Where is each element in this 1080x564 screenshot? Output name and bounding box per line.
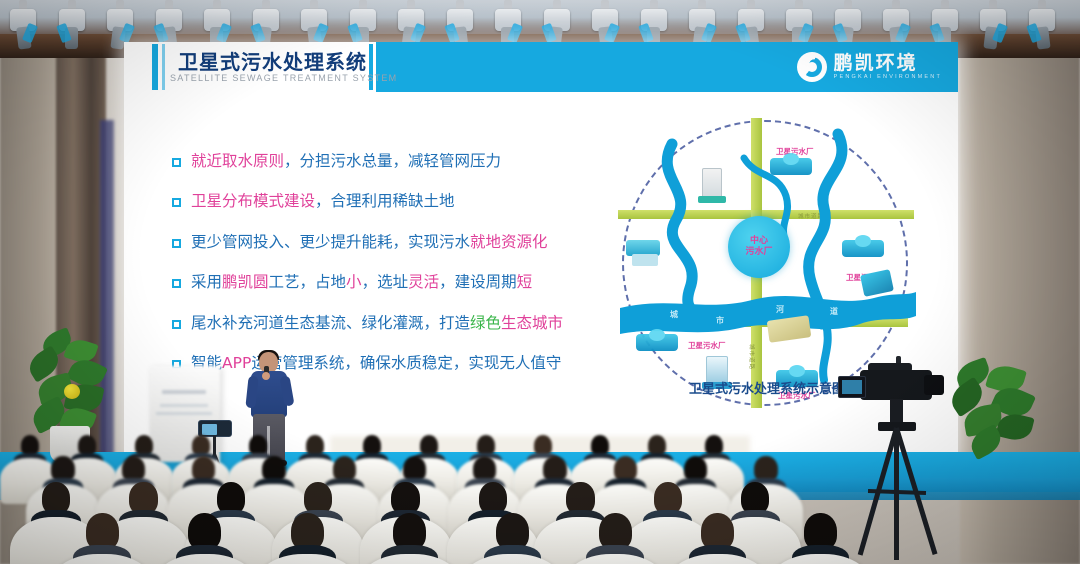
lectern-logo [162, 390, 206, 394]
presenter-hand [262, 372, 270, 380]
bullet-text-segment: 就地资源化 [470, 233, 548, 251]
slide-header-band: 卫星式污水处理系统 SATELLITE SEWAGE TREATMENT SYS… [124, 42, 958, 92]
bullet-text-segment: 更少管网投入、更少提升能耗，实现污水 [191, 233, 470, 251]
center-plant-label-line2: 污水厂 [745, 247, 772, 258]
bullet-text-segment: 生态城市 [501, 314, 563, 332]
river-label-char-1: 城 [670, 309, 678, 320]
bullet-text: 就近取水原则，分担污水总量，减轻管网压力 [191, 152, 501, 171]
stage-spotlight-icon [8, 0, 38, 56]
bullet-text-segment: 鹏凯圆 [222, 273, 269, 291]
audience-seating [0, 430, 1080, 564]
screenshot-root: 卫星式污水处理系统 SATELLITE SEWAGE TREATMENT SYS… [0, 0, 1080, 564]
header-accent-bar-edge [369, 44, 373, 90]
river-label-char-3: 河 [776, 304, 784, 315]
center-plant-node: 中心 污水厂 [728, 216, 790, 278]
bullet-text-segment: 就近取水原则 [191, 152, 284, 170]
bullet-text-segment: 绿色 [470, 314, 501, 332]
square-outline-bullet-icon [172, 279, 181, 288]
bullet-text-segment: 采用 [191, 273, 222, 291]
satellite-plant-icon-top [770, 158, 812, 175]
bullet-item: 就近取水原则，分担污水总量，减轻管网压力 [172, 152, 592, 171]
bullet-text-segment: 灵活 [408, 273, 439, 291]
bullet-item: 更少管网投入、更少提升能耗，实现污水就地资源化 [172, 233, 592, 252]
brand-name-cn: 鹏凯环境 [834, 54, 942, 73]
bullet-text-segment: 小 [346, 273, 362, 291]
river-label-char-4: 道 [830, 306, 838, 317]
bullet-item: 卫星分布模式建设，合理利用稀缺土地 [172, 192, 592, 211]
bullet-text-segment: ，分担污水总量，减轻管网压力 [284, 152, 501, 170]
bullet-text: 更少管网投入、更少提升能耗，实现污水就地资源化 [191, 233, 548, 252]
bullet-text-segment: 工艺，占地 [269, 273, 347, 291]
lectern-text-line-2 [156, 412, 212, 415]
river-label-char-2: 市 [716, 315, 724, 326]
camera-lens-hood [924, 375, 944, 395]
header-accent-bar-secondary [162, 44, 165, 90]
building-base-top [698, 196, 726, 203]
bullet-text: 卫星分布模式建设，合理利用稀缺土地 [191, 192, 455, 211]
bullet-text-segment: 运营管理系统，确保水质稳定，实现无人值守 [251, 354, 561, 372]
center-plant-label-line1: 中心 [750, 236, 768, 247]
square-outline-bullet-icon [172, 320, 181, 329]
bullet-text-segment: ，建设周期 [439, 273, 517, 291]
bullet-text-segment: ，合理利用稀缺土地 [315, 192, 455, 210]
brand-name-en: PENGKAI ENVIRONMENT [834, 75, 942, 81]
stage-spotlight-icon [1027, 0, 1057, 56]
bullet-text-segment: 卫星分布模式建设 [191, 192, 315, 210]
bullet-text: 采用鹏凯圆工艺，占地小，选址灵活，建设周期短 [191, 273, 532, 292]
square-outline-bullet-icon [172, 158, 181, 167]
bullet-item: 智能APP运营管理系统，确保水质稳定，实现无人值守 [172, 354, 592, 373]
slide-title: 卫星式污水处理系统 [178, 46, 367, 75]
camera-monitor [838, 376, 866, 398]
stage-spotlight-icon [978, 0, 1008, 56]
brand-text: 鹏凯环境 PENGKAI ENVIRONMENT [834, 54, 942, 81]
bullet-text-segment: ，选址 [362, 273, 409, 291]
swirl-circle-logo-icon [797, 52, 827, 82]
brand-logo: 鹏凯环境 PENGKAI ENVIRONMENT [797, 47, 942, 87]
plant-fruit [64, 384, 80, 399]
satellite-label-bottom-left: 卫星污水厂 [688, 340, 726, 351]
satellite-plant-icon-bottom-left [636, 334, 678, 351]
header-accent-bar-primary [152, 44, 158, 90]
lectern-text-line-1 [160, 404, 208, 407]
building-campus-left-base [632, 254, 658, 266]
bullet-item: 尾水补充河道生态基流、绿化灌溉，打造绿色生态城市 [172, 314, 592, 333]
square-outline-bullet-icon [172, 198, 181, 207]
bullet-text: 尾水补充河道生态基流、绿化灌溉，打造绿色生态城市 [191, 314, 563, 333]
bullet-text-segment: 短 [517, 273, 533, 291]
slide-subtitle: SATELLITE SEWAGE TREATMENT SYSTEM [170, 73, 397, 83]
camera-monitor-screen [842, 380, 862, 394]
satellite-plant-icon-right [842, 240, 884, 257]
stage-spotlight-icon [57, 0, 87, 56]
bullet-item: 采用鹏凯圆工艺，占地小，选址灵活，建设周期短 [172, 273, 592, 292]
bullet-text-segment: 尾水补充河道生态基流、绿化灌溉，打造 [191, 314, 470, 332]
slide-bullet-list: 就近取水原则，分担污水总量，减轻管网压力卫星分布模式建设，合理利用稀缺土地更少管… [172, 152, 592, 394]
square-outline-bullet-icon [172, 239, 181, 248]
camera-body [860, 370, 932, 400]
